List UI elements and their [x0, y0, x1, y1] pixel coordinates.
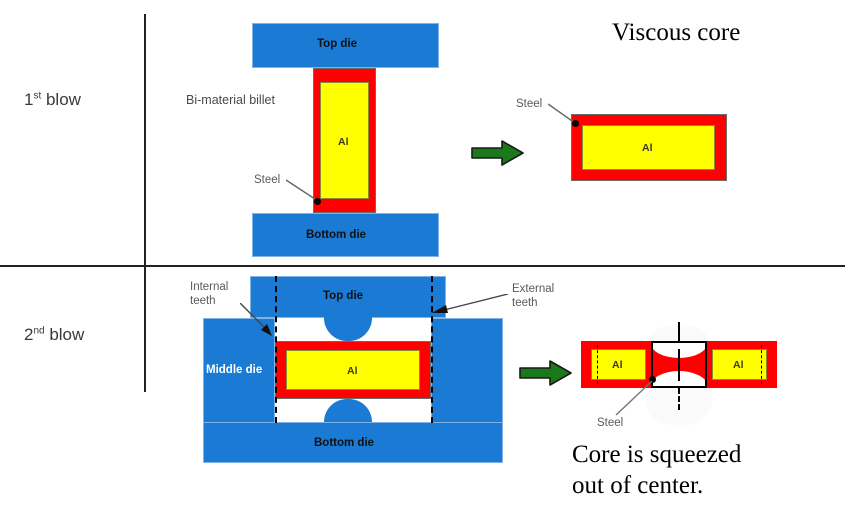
core-centerline-upper — [678, 322, 680, 342]
internal-teeth-label: Internal teeth — [190, 281, 228, 308]
first-blow-steel-label: Steel — [254, 174, 280, 188]
second-blow-word: blow — [45, 325, 85, 344]
bi-material-billet-label: Bi-material billet — [186, 93, 275, 108]
first-blow-word: blow — [41, 90, 81, 109]
second-result-right-guide-line — [761, 345, 762, 384]
second-result-al-right-label: Al — [733, 359, 744, 371]
second-blow-top-die-label: Top die — [323, 290, 363, 302]
core-centerline-middle — [678, 349, 680, 381]
second-blow-result-arrow — [518, 358, 574, 388]
first-blow-top-die-label: Top die — [317, 38, 357, 50]
second-blow-middle-die-right — [431, 318, 503, 423]
second-blow-middle-die-label: Middle die — [206, 364, 262, 376]
second-blow-bottom-die-bulge — [324, 399, 372, 423]
first-blow-steel-anchor-dot — [314, 198, 321, 205]
external-teeth-label: External teeth — [512, 283, 554, 310]
second-result-al-left-label: Al — [612, 359, 623, 371]
external-teeth-leader — [430, 294, 512, 318]
second-blow-al-label: Al — [347, 365, 358, 377]
second-blow-top-die-bulge — [324, 317, 372, 341]
second-blow-ordinal: nd — [33, 325, 44, 336]
first-result-steel-anchor-dot — [572, 120, 579, 127]
internal-teeth-leader — [240, 303, 282, 343]
second-blow-bottom-die-label: Bottom die — [314, 437, 374, 449]
first-blow-result-arrow — [470, 138, 526, 168]
first-blow-al-label: Al — [338, 136, 349, 148]
first-result-al-label: Al — [642, 142, 653, 154]
row-label-second-blow: 2nd blow — [24, 325, 84, 345]
first-blow-bottom-die-label: Bottom die — [306, 229, 366, 241]
second-result-steel-leader — [612, 381, 656, 421]
second-result-left-guide-line — [597, 345, 598, 384]
row-label-first-blow: 1st blow — [24, 90, 81, 110]
viscous-core-heading: Viscous core — [612, 18, 740, 49]
vertical-divider — [144, 14, 146, 392]
internal-teeth-guide-line — [275, 276, 277, 423]
figure-canvas: 1st blow 2nd blow Top die Bottom die Al … — [0, 0, 868, 522]
squeezed-core-caption: Core is squeezed out of center. — [572, 440, 741, 501]
second-result-steel-label: Steel — [597, 417, 623, 431]
horizontal-divider — [0, 265, 845, 267]
first-result-steel-label: Steel — [516, 98, 542, 112]
core-centerline-lower — [678, 388, 680, 410]
